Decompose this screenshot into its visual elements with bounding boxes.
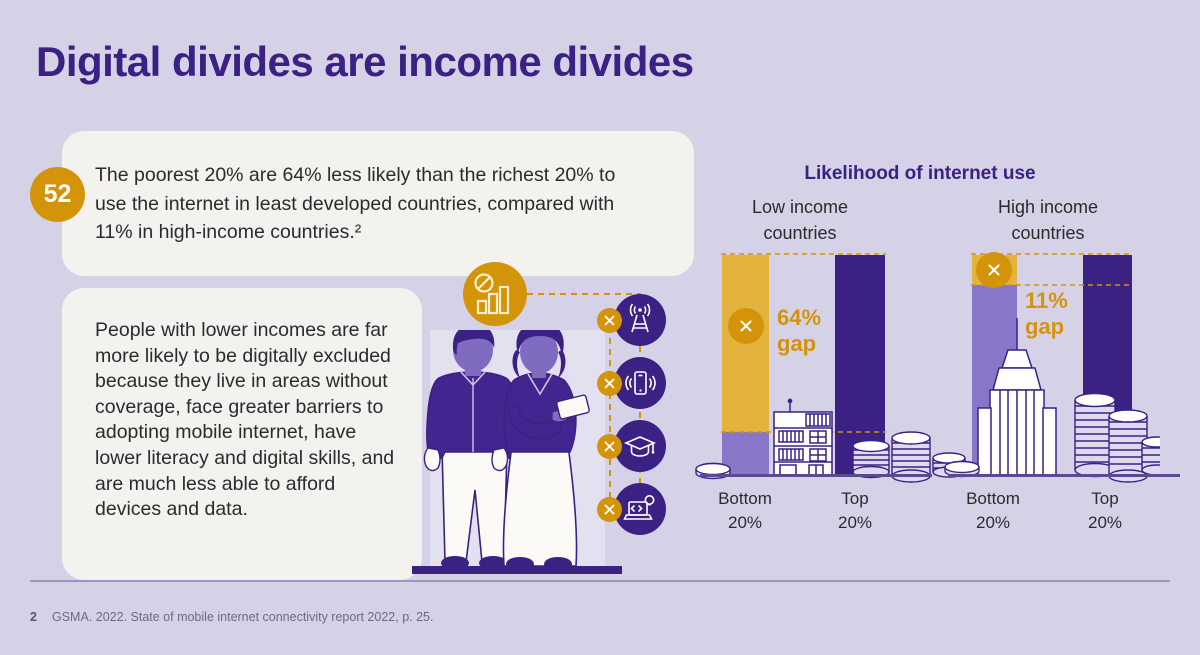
group-label-low-line1: Low income [700, 194, 900, 220]
footnote: 2GSMA. 2022. State of mobile internet co… [30, 610, 433, 624]
footnote-number: 2 [30, 610, 52, 624]
people-illustration [412, 330, 622, 580]
axis-label-low-top: Top 20% [810, 487, 900, 535]
detail-card: People with lower incomes are far more l… [62, 288, 422, 580]
axis-label-high-top-line2: 20% [1060, 511, 1150, 535]
group-label-high-line2: countries [948, 220, 1148, 246]
exclusion-x-icon [597, 434, 622, 459]
axis-label-high-top-line1: Top [1060, 487, 1150, 511]
exclusion-x-icon [597, 497, 622, 522]
axis-label-low-bottom: Bottom 20% [695, 487, 795, 535]
exclusion-x-icon [597, 308, 622, 333]
group-label-high-line1: High income [948, 194, 1148, 220]
exclusion-x-icon [597, 371, 622, 396]
chart-group-label-low: Low income countries [700, 194, 900, 246]
no-chart-icon [463, 262, 527, 326]
axis-label-low-top-line2: 20% [810, 511, 900, 535]
gap-label-high-value: 11% [1025, 288, 1068, 314]
group-label-low-line2: countries [700, 220, 900, 246]
barrier-icon-tower[interactable] [614, 294, 666, 346]
axis-label-high-bottom-line2: 20% [943, 511, 1043, 535]
slide-root: Digital divides are income divides 52 Th… [0, 0, 1200, 655]
page-title: Digital divides are income divides [36, 38, 694, 86]
chart-title: Likelihood of internet use [690, 163, 1150, 185]
bar-high-x-icon [976, 252, 1012, 288]
barrier-icon-education[interactable] [614, 420, 666, 472]
gap-label-low-value: 64% [777, 305, 821, 331]
stat-card: 52 The poorest 20% are 64% less likely t… [62, 131, 694, 276]
chart-baseline-low [700, 474, 932, 477]
chart-group-label-high: High income countries [948, 194, 1148, 246]
chart-baseline-high [948, 474, 1180, 477]
gap-label-low-suffix: gap [777, 331, 821, 357]
chart-decorations [690, 250, 1160, 490]
axis-label-high-bottom-line1: Bottom [943, 487, 1043, 511]
axis-label-low-top-line1: Top [810, 487, 900, 511]
gap-label-high: 11% gap [1025, 288, 1068, 340]
barrier-icon-skills[interactable] [614, 483, 666, 535]
gap-label-high-suffix: gap [1025, 314, 1068, 340]
barrier-icon-phone[interactable] [614, 357, 666, 409]
axis-label-high-top: Top 20% [1060, 487, 1150, 535]
footnote-text: GSMA. 2022. State of mobile internet con… [52, 610, 433, 624]
axis-label-high-bottom: Bottom 20% [943, 487, 1043, 535]
detail-card-text: People with lower incomes are far more l… [95, 318, 400, 523]
stat-badge: 52 [30, 167, 85, 222]
axis-label-low-bottom-line1: Bottom [695, 487, 795, 511]
gap-label-low: 64% gap [777, 305, 821, 357]
footer-divider [30, 580, 1170, 582]
stat-card-text: The poorest 20% are 64% less likely than… [95, 161, 635, 247]
bar-low-x-icon [728, 308, 764, 344]
axis-label-low-bottom-line2: 20% [695, 511, 795, 535]
